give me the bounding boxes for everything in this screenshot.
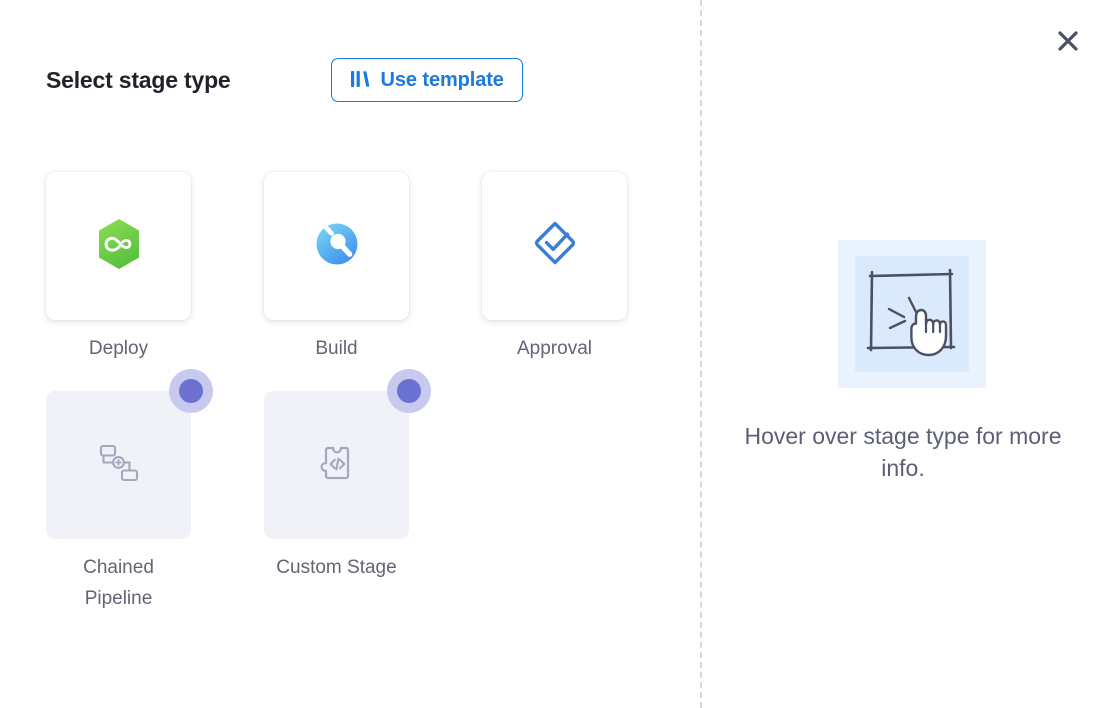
- stage-type-label-deploy: Deploy: [89, 333, 148, 364]
- illustration-inner-plate: [855, 256, 969, 372]
- click-hand-square-illustration: [838, 240, 986, 388]
- stage-info-hint: Hover over stage type for more info.: [723, 420, 1083, 484]
- chained-pipeline-badge-dot: [169, 369, 213, 413]
- stage-type-tile-build[interactable]: [264, 172, 409, 320]
- stage-type-card-chained-pipeline: Chained Pipeline: [46, 391, 191, 614]
- stage-type-label-approval: Approval: [517, 333, 592, 364]
- custom-stage-badge-dot: [387, 369, 431, 413]
- dialog-header: Select stage type Use template: [46, 58, 523, 102]
- page-title: Select stage type: [46, 67, 231, 94]
- chained-pipeline-nodes-icon: [96, 440, 142, 491]
- stage-type-card-deploy: Deploy: [46, 172, 191, 364]
- harness-hexagon-infinity-icon: [94, 217, 144, 276]
- template-bars-icon: [350, 69, 372, 92]
- use-template-label: Use template: [381, 69, 504, 92]
- approval-diamond-check-icon: [531, 219, 579, 274]
- stage-type-card-build: Build: [264, 172, 409, 364]
- stage-type-selection-pane: Select stage type Use template: [0, 0, 700, 708]
- stage-type-tile-deploy[interactable]: [46, 172, 191, 320]
- stage-type-tile-chained-pipeline[interactable]: [46, 391, 191, 539]
- stage-type-label-build: Build: [315, 333, 357, 364]
- stage-info-pane: Hover over stage type for more info.: [700, 0, 1106, 708]
- custom-stage-puzzle-code-icon: [315, 441, 359, 490]
- stage-type-label-custom-stage: Custom Stage: [276, 552, 396, 583]
- use-template-button[interactable]: Use template: [331, 58, 523, 102]
- badge-dot-inner: [179, 379, 203, 403]
- badge-dot-inner: [397, 379, 421, 403]
- stage-type-card-grid: Deploy: [46, 172, 666, 614]
- build-magnifier-circle-icon: [314, 221, 360, 272]
- stage-type-card-approval: Approval: [482, 172, 627, 364]
- stage-type-tile-approval[interactable]: [482, 172, 627, 320]
- stage-type-card-custom-stage: Custom Stage: [264, 391, 409, 614]
- stage-type-label-chained-pipeline: Chained Pipeline: [56, 552, 181, 614]
- select-stage-type-dialog: Select stage type Use template: [0, 0, 1106, 708]
- stage-type-tile-custom-stage[interactable]: [264, 391, 409, 539]
